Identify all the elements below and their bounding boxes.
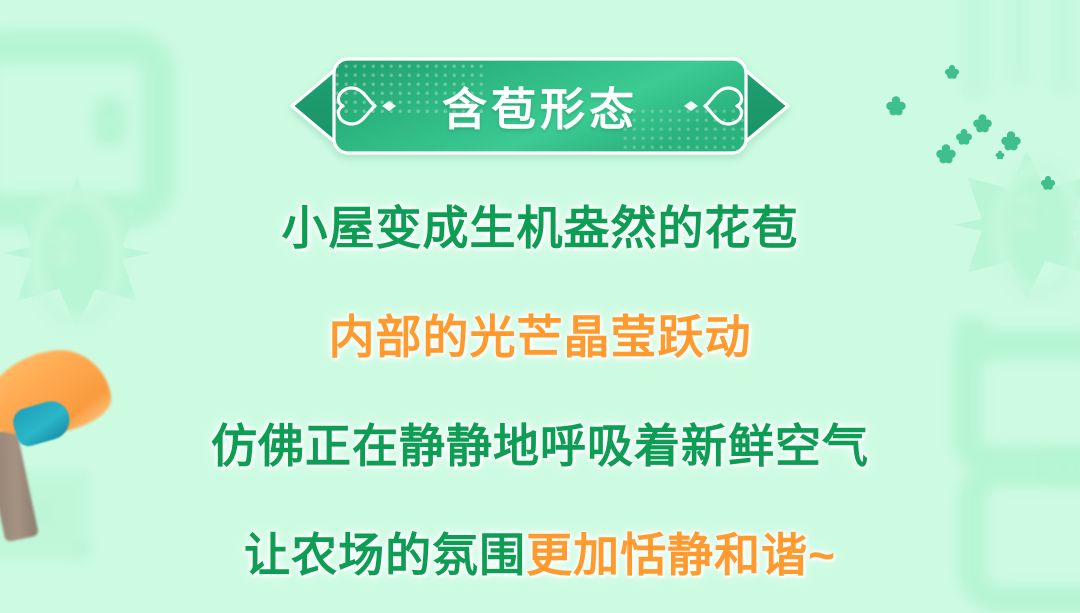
watermark-bar-top-right-a — [958, 0, 992, 100]
copy-line-4-segment-1: 让农场的氛围 — [244, 529, 526, 581]
clover-small-top-icon — [944, 64, 960, 80]
watermark-bar-top-right-c — [1048, 0, 1078, 96]
clover-tiny-right-icon — [995, 148, 1005, 158]
clover-mid-upper-icon — [972, 113, 993, 134]
copy-line-2: 内部的光芒晶莹跃动 — [0, 314, 1080, 360]
copy-line-3: 仿佛正在静静地呼吸着新鲜空气 — [0, 423, 1080, 469]
copy-line-4-segment-2: 更加恬静和谐~ — [526, 529, 836, 581]
title-banner: 含苞形态 — [290, 55, 790, 157]
copy-line-1-segment-1: 小屋变成生机盎然的花苞 — [282, 202, 799, 254]
watermark-bracket-top-left — [0, 30, 176, 228]
copy-line-3-segment-1: 仿佛正在静静地呼吸着新鲜空气 — [211, 420, 869, 472]
clover-left-icon — [885, 95, 907, 117]
clover-mid-icon — [955, 128, 973, 146]
watermark-block-top-left-b — [95, 118, 125, 146]
watermark-block-top-left-a — [95, 98, 125, 126]
watermark-bar-top-right-b — [1006, 0, 1032, 88]
clover-lower-left-icon — [935, 143, 957, 165]
copy-line-2-segment-1: 内部的光芒晶莹跃动 — [329, 311, 752, 363]
banner-title-text: 含苞形态 — [290, 55, 790, 157]
copy-line-4: 让农场的氛围更加恬静和谐~ — [0, 532, 1080, 578]
slide-canvas: 含苞形态 小屋变成生机盎然的花苞内部的光芒晶莹跃动仿佛正在静静地呼吸着新鲜空气让… — [0, 0, 1080, 613]
body-copy: 小屋变成生机盎然的花苞内部的光芒晶莹跃动仿佛正在静静地呼吸着新鲜空气让农场的氛围… — [0, 205, 1080, 578]
copy-line-1: 小屋变成生机盎然的花苞 — [0, 205, 1080, 251]
clover-far-right-icon — [1040, 175, 1056, 191]
